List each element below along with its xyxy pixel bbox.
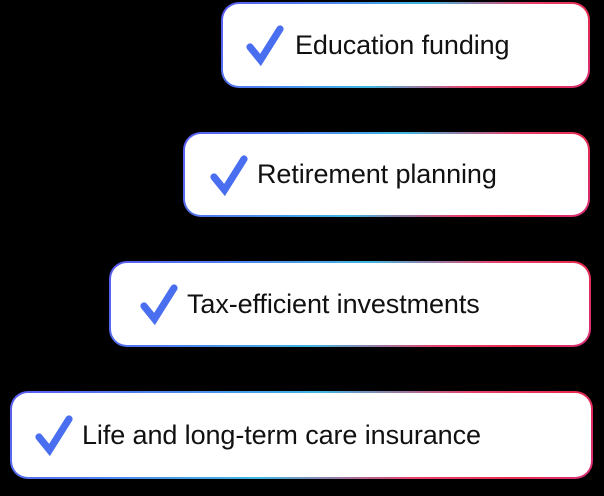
checklist-card[interactable]: Retirement planning [183, 132, 590, 217]
checklist-card-label: Education funding [295, 32, 509, 59]
checklist-card-label: Life and long-term care insurance [82, 422, 481, 449]
checklist-card-inner: Life and long-term care insurance [12, 393, 591, 477]
checklist-stage: Education funding Retirement planning Ta… [0, 0, 604, 496]
check-icon [139, 278, 179, 330]
checklist-card-inner: Tax-efficient investments [111, 263, 589, 345]
checklist-card[interactable]: Education funding [221, 2, 590, 88]
checklist-card-label: Retirement planning [257, 161, 497, 188]
check-icon [209, 149, 249, 201]
checklist-card-label: Tax-efficient investments [187, 291, 480, 318]
checklist-card-inner: Retirement planning [185, 134, 588, 215]
checklist-card[interactable]: Tax-efficient investments [109, 261, 591, 347]
check-icon [34, 409, 74, 461]
checklist-card-inner: Education funding [223, 4, 588, 86]
check-icon [245, 19, 285, 71]
checklist-card[interactable]: Life and long-term care insurance [10, 391, 593, 479]
